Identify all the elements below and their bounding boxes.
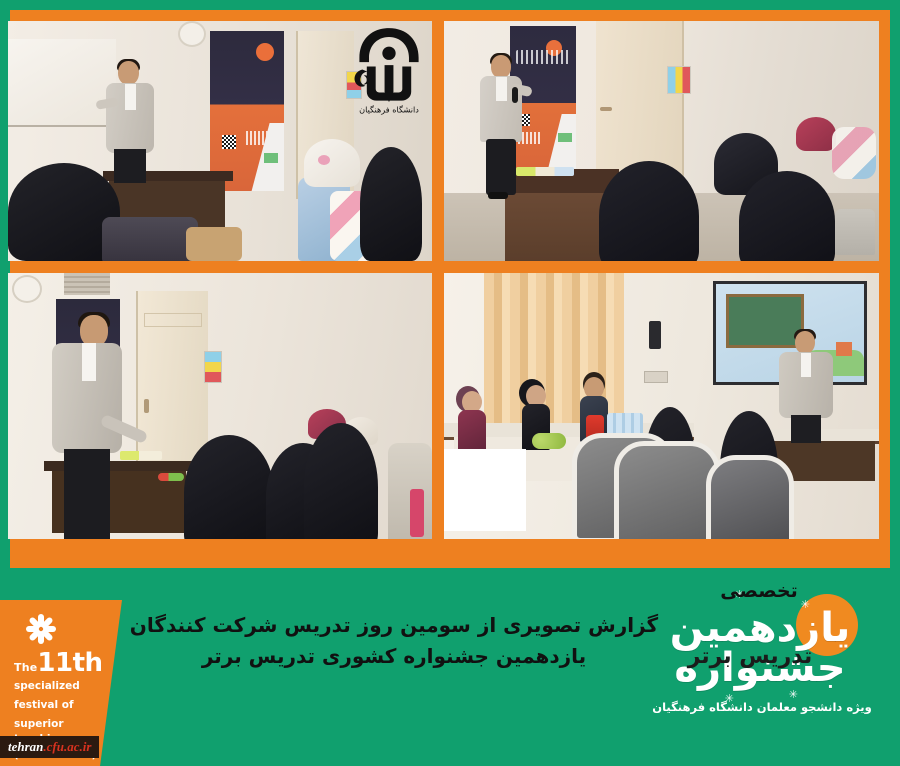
badge-ordinal-line: The11th xyxy=(14,650,106,676)
shirt xyxy=(125,84,136,110)
site-watermark[interactable]: tehran.cfu.ac.ir xyxy=(0,736,99,758)
banner-green-accent xyxy=(264,153,278,163)
head xyxy=(491,55,511,78)
banner-curve xyxy=(542,114,576,174)
shoe xyxy=(488,192,508,199)
wall-panel xyxy=(649,321,661,349)
calligraphy-top-word: تخصصی xyxy=(658,580,860,602)
banner-sun-icon xyxy=(256,43,274,61)
desk-papers xyxy=(516,167,574,176)
presenter-person xyxy=(779,331,833,441)
wall-clock-icon xyxy=(178,21,206,47)
slide-house xyxy=(836,342,852,356)
chair xyxy=(835,209,875,255)
wall-clock-icon xyxy=(12,275,42,303)
headline: گزارش تصویری از سومین روز تدریس شرکت کنن… xyxy=(128,610,660,672)
attendee-white-scarf xyxy=(304,139,360,187)
legs xyxy=(486,139,516,195)
headline-line-2: یازدهمین جشنواره کشوری تدریس برتر xyxy=(128,641,660,672)
door-handle xyxy=(144,399,149,413)
festival-rollup-banner xyxy=(210,31,284,191)
flower-icon xyxy=(26,614,56,644)
wall-poster xyxy=(204,351,222,383)
desk-papers xyxy=(120,451,162,460)
fruit-plate xyxy=(532,433,566,449)
photo-collage: دانشگاه فرهنگیان xyxy=(10,10,890,568)
legs xyxy=(114,149,146,183)
photo-top-left[interactable] xyxy=(444,21,879,261)
chair xyxy=(102,217,198,261)
head xyxy=(118,61,139,85)
calligraphy-mid: تدریس برتر xyxy=(658,646,842,668)
festival-report-poster: دانشگاه فرهنگیان xyxy=(0,0,900,766)
attendee-patterned-scarf xyxy=(832,127,876,179)
legs xyxy=(791,415,821,443)
banner-qr-icon xyxy=(222,135,236,149)
shirt xyxy=(82,343,96,381)
attendee xyxy=(360,147,422,261)
pink-bag xyxy=(410,489,424,537)
photo-bottom-right[interactable] xyxy=(8,273,432,539)
legs xyxy=(64,449,110,539)
qr-code[interactable] xyxy=(444,449,526,531)
air-vent xyxy=(64,273,110,295)
logo-caption: دانشگاه فرهنگیان xyxy=(359,104,419,114)
presenter-person xyxy=(480,55,522,195)
badge-ordinal-prefix: The xyxy=(14,661,37,674)
banner-green-accent xyxy=(558,133,572,142)
flower-gift xyxy=(158,473,184,481)
attendee xyxy=(184,435,274,539)
microphone-icon xyxy=(512,87,518,103)
festival-calligraphy-logo: ✳ ✳ ✳ ✳ تخصصی یازدهمین جشنواره تدریس برت… xyxy=(630,572,894,762)
photo-top-right[interactable]: دانشگاه فرهنگیان xyxy=(8,21,432,261)
calligraphy-subtitle: ویژه دانشجو معلمان دانشگاه فرهنگیان xyxy=(630,700,894,714)
presenter-person xyxy=(106,61,154,181)
watermark-site: tehran xyxy=(8,739,43,755)
poster-footer: The11th specialized festival of superior… xyxy=(0,568,900,766)
chair xyxy=(186,227,242,261)
badge-ordinal: 11th xyxy=(37,648,102,678)
presenter-person xyxy=(52,315,122,539)
projection-screen xyxy=(8,39,116,127)
shirt xyxy=(496,77,507,101)
badge-line-1: specialized xyxy=(14,679,106,695)
wall-socket xyxy=(644,371,668,383)
office-chair xyxy=(614,441,720,539)
attendee-headscarf xyxy=(796,117,836,151)
badge-line-2: festival of xyxy=(14,698,106,714)
photo-bottom-left[interactable] xyxy=(444,273,879,539)
attendee xyxy=(304,423,378,539)
attendee xyxy=(739,171,835,261)
office-chair xyxy=(706,455,794,539)
head xyxy=(795,331,815,354)
watermark-domain: .cfu.ac.ir xyxy=(43,739,91,755)
wall-poster xyxy=(667,66,691,94)
farhangian-university-logo: دانشگاه فرهنگیان xyxy=(352,23,426,119)
banner-calligraphy xyxy=(516,50,570,64)
attendee xyxy=(599,161,699,261)
shirt xyxy=(801,353,811,377)
headline-line-1: گزارش تصویری از سومین روز تدریس شرکت کنن… xyxy=(128,610,660,641)
